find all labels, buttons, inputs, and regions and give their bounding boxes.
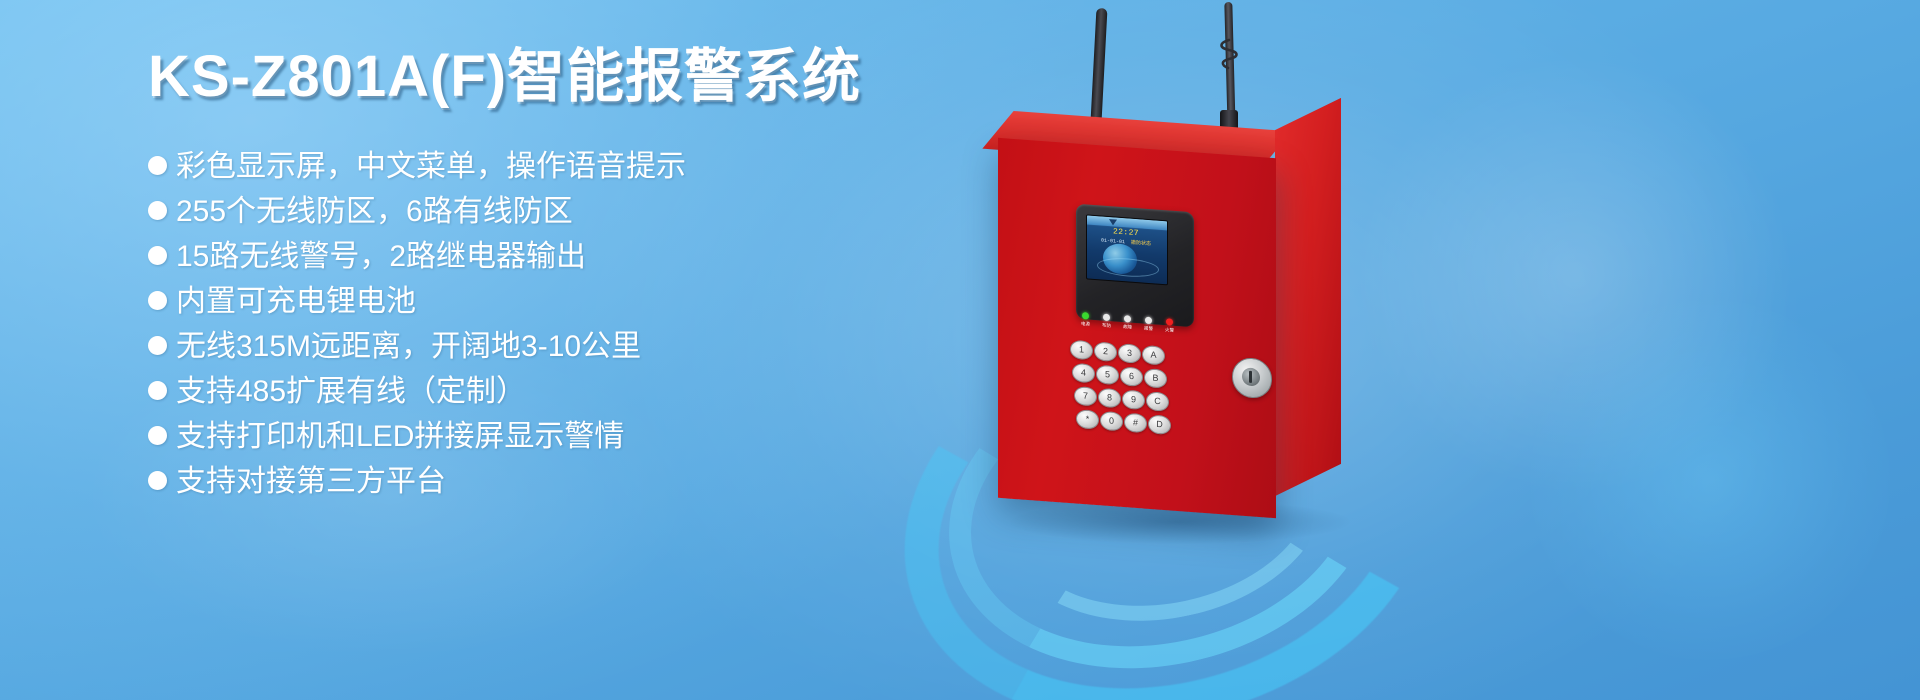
bullet-dot-icon bbox=[148, 201, 167, 220]
feature-label: 支持打印机和LED拼接屏显示警情 bbox=[176, 422, 624, 452]
keypad-key-#[interactable]: # bbox=[1124, 413, 1147, 434]
feature-label: 15路无线警号，2路继电器输出 bbox=[176, 242, 586, 272]
feature-label: 支持对接第三方平台 bbox=[176, 467, 446, 497]
feature-item: 支持485扩展有线（定制） bbox=[148, 377, 968, 407]
keypad-key-8[interactable]: 8 bbox=[1098, 388, 1121, 409]
keypad-key-0[interactable]: 0 bbox=[1100, 411, 1123, 432]
feature-item: 支持打印机和LED拼接屏显示警情 bbox=[148, 422, 968, 452]
feature-item: 无线315M远距离，开阔地3-10公里 bbox=[148, 332, 968, 362]
product-banner: KS-Z801A(F)智能报警系统 彩色显示屏，中文菜单，操作语音提示 255个… bbox=[0, 0, 1920, 700]
keypad-key-4[interactable]: 4 bbox=[1072, 363, 1095, 384]
keypad-key-7[interactable]: 7 bbox=[1074, 386, 1097, 407]
feature-item: 15路无线警号，2路继电器输出 bbox=[148, 242, 968, 272]
feature-list: 彩色显示屏，中文菜单，操作语音提示 255个无线防区，6路有线防区 15路无线警… bbox=[148, 152, 968, 497]
keypad-key-A[interactable]: A bbox=[1142, 345, 1165, 366]
bullet-dot-icon bbox=[148, 291, 167, 310]
led-label: 火警 bbox=[1165, 327, 1174, 334]
lcd-screen[interactable]: 22:27 01-01-01 撤防状态 bbox=[1086, 214, 1168, 285]
keypad-key-5[interactable]: 5 bbox=[1096, 365, 1119, 386]
lcd-date-text: 01-01-01 bbox=[1101, 239, 1125, 246]
led-label: 布防 bbox=[1102, 323, 1111, 330]
lcd-time-text: 22:27 bbox=[1113, 228, 1139, 238]
antenna-coil-icon bbox=[1215, 38, 1243, 72]
keypad-key-2[interactable]: 2 bbox=[1094, 341, 1117, 362]
keypad-key-C[interactable]: C bbox=[1146, 391, 1169, 412]
bullet-dot-icon bbox=[148, 156, 167, 175]
feature-label: 支持485扩展有线（定制） bbox=[176, 377, 526, 407]
feature-label: 彩色显示屏，中文菜单，操作语音提示 bbox=[176, 152, 686, 182]
bullet-dot-icon bbox=[148, 246, 167, 265]
bullet-dot-icon bbox=[148, 336, 167, 355]
bullet-dot-icon bbox=[148, 471, 167, 490]
product-title: KS-Z801A(F)智能报警系统 bbox=[148, 48, 968, 106]
display-bezel: 22:27 01-01-01 撤防状态 bbox=[1076, 204, 1194, 328]
led-indicator bbox=[1124, 315, 1131, 323]
feature-label: 内置可充电锂电池 bbox=[176, 287, 416, 317]
enclosure-side-face bbox=[1275, 98, 1341, 496]
led-indicator bbox=[1082, 312, 1089, 320]
feature-item: 彩色显示屏，中文菜单，操作语音提示 bbox=[148, 152, 968, 182]
lock-keyslot-icon bbox=[1249, 371, 1252, 383]
feature-label: 255个无线防区，6路有线防区 bbox=[176, 197, 573, 227]
bullet-dot-icon bbox=[148, 426, 167, 445]
keypad-key-*[interactable]: * bbox=[1076, 409, 1099, 430]
keypad-key-B[interactable]: B bbox=[1144, 368, 1167, 389]
keypad-key-6[interactable]: 6 bbox=[1120, 366, 1143, 387]
led-indicator bbox=[1166, 318, 1173, 326]
keypad-key-3[interactable]: 3 bbox=[1118, 343, 1141, 364]
signal-icon bbox=[1109, 219, 1117, 226]
led-label: 故障 bbox=[1123, 324, 1132, 331]
lcd-globe-ring bbox=[1097, 256, 1159, 279]
keypad-key-9[interactable]: 9 bbox=[1122, 389, 1145, 410]
led-indicator bbox=[1103, 314, 1110, 322]
background-glow-right bbox=[1530, 300, 1890, 660]
keypad-key-D[interactable]: D bbox=[1148, 414, 1171, 435]
keypad[interactable]: 123A456B789C*0#D bbox=[1070, 340, 1190, 469]
banner-text-block: KS-Z801A(F)智能报警系统 彩色显示屏，中文菜单，操作语音提示 255个… bbox=[148, 48, 968, 512]
feature-item: 支持对接第三方平台 bbox=[148, 467, 968, 497]
feature-item: 255个无线防区，6路有线防区 bbox=[148, 197, 968, 227]
alarm-control-panel-device: 22:27 01-01-01 撤防状态 电源布防故障报警火警 123A456B7… bbox=[940, 0, 1500, 700]
feature-label: 无线315M远距离，开阔地3-10公里 bbox=[176, 332, 641, 362]
keypad-key-1[interactable]: 1 bbox=[1070, 340, 1093, 361]
lcd-mode-text: 撤防状态 bbox=[1131, 241, 1151, 247]
led-indicator bbox=[1145, 317, 1152, 325]
led-label: 电源 bbox=[1081, 321, 1090, 328]
bullet-dot-icon bbox=[148, 381, 167, 400]
feature-item: 内置可充电锂电池 bbox=[148, 287, 968, 317]
led-label: 报警 bbox=[1144, 326, 1153, 333]
